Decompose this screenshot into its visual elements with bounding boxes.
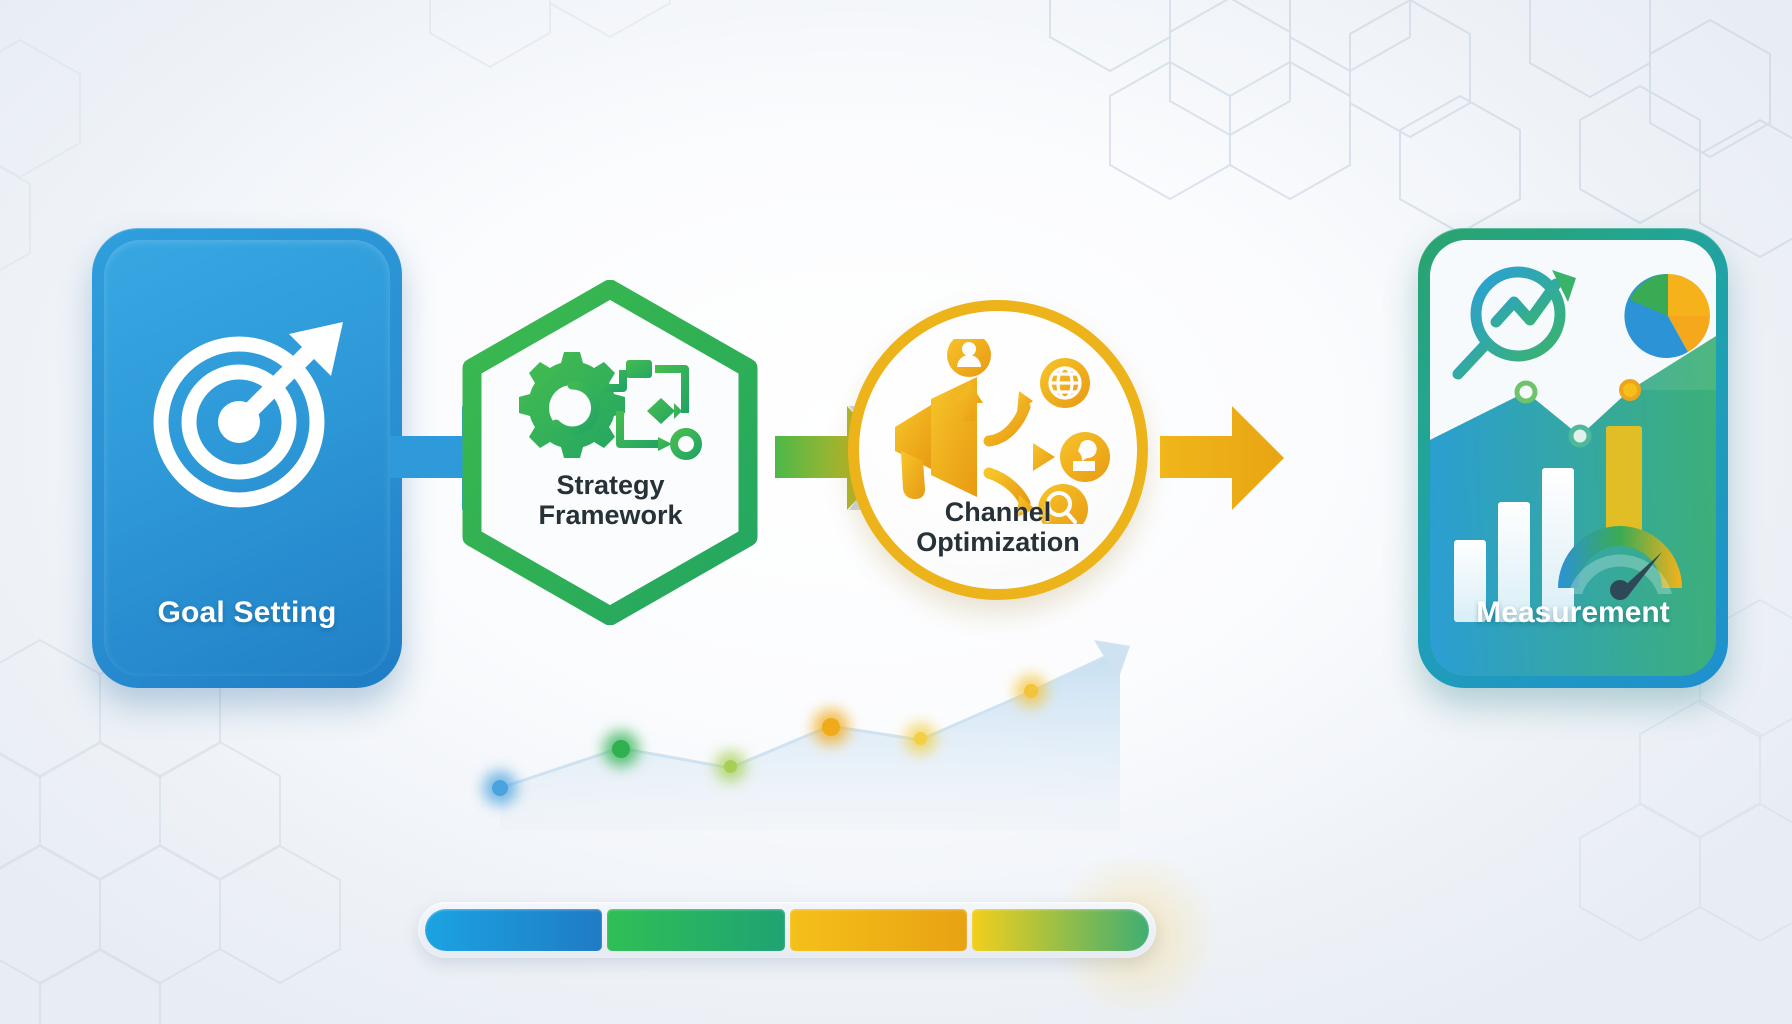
infographic-canvas: Goal Setting: [0, 0, 1792, 1024]
gear-flowchart-icon: [516, 342, 706, 472]
step-label-line-2: Optimization: [859, 527, 1137, 557]
data-point-5: [914, 732, 927, 745]
step-label-line-1: Channel: [859, 497, 1137, 527]
step-card-channel-optimization[interactable]: Channel Optimization: [848, 300, 1148, 600]
step-card-strategy-framework[interactable]: Strategy Framework: [458, 280, 763, 625]
progress-segment-measurement[interactable]: [972, 909, 1149, 951]
data-point-1: [492, 780, 508, 796]
step-label-line-1: Strategy: [458, 470, 763, 500]
step-card-measurement[interactable]: Measurement: [1418, 228, 1728, 688]
progress-segment-goal[interactable]: [425, 909, 602, 951]
bottom-line-chart: [430, 640, 1170, 830]
step-label-line-2: Framework: [458, 500, 763, 530]
stage-progress-bar[interactable]: [418, 902, 1156, 958]
progress-segment-strategy[interactable]: [607, 909, 784, 951]
data-point-2: [612, 740, 630, 758]
step-label-measurement: Measurement: [1418, 596, 1728, 630]
step-label-channel-optimization: Channel Optimization: [859, 497, 1137, 557]
data-point-6: [1024, 684, 1038, 698]
step-label-goal-setting: Goal Setting: [92, 596, 402, 630]
step-label-strategy-framework: Strategy Framework: [458, 470, 763, 530]
progress-segment-channel[interactable]: [790, 909, 967, 951]
step-card-goal-setting[interactable]: Goal Setting: [92, 228, 402, 688]
data-point-3: [724, 760, 737, 773]
connector-arrow-3: [1152, 398, 1302, 523]
target-arrow-icon: [147, 314, 347, 514]
data-point-4: [822, 718, 840, 736]
